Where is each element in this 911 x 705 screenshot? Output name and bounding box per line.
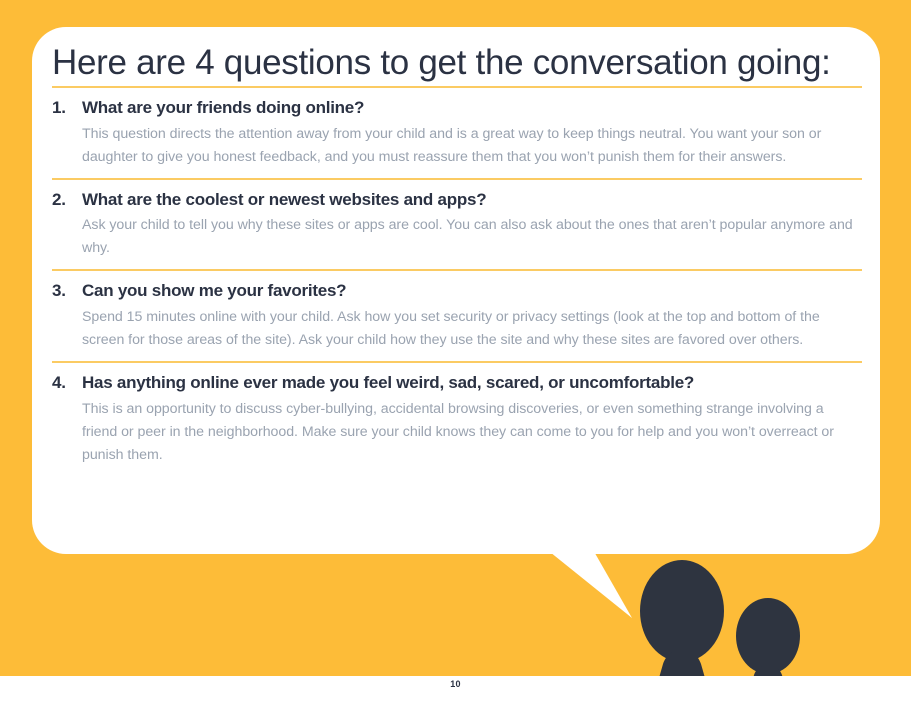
question-title: Can you show me your favorites? [82, 280, 862, 303]
question-title: What are the coolest or newest websites … [82, 189, 862, 212]
question-text: This is an opportunity to discuss cyber-… [82, 398, 862, 467]
question-text: Spend 15 minutes online with your child.… [82, 306, 862, 352]
question-body: What are the coolest or newest websites … [82, 189, 862, 261]
page-number: 10 [0, 679, 911, 689]
page-title: Here are 4 questions to get the conversa… [42, 27, 870, 86]
question-item-4: 4. Has anything online ever made you fee… [52, 361, 862, 476]
question-number: 3. [52, 280, 82, 302]
question-number: 1. [52, 97, 82, 119]
question-text: This question directs the attention away… [82, 123, 862, 169]
slide-page: Here are 4 questions to get the conversa… [0, 0, 911, 705]
question-title: Has anything online ever made you feel w… [82, 372, 862, 395]
question-body: Has anything online ever made you feel w… [82, 372, 862, 467]
question-body: What are your friends doing online? This… [82, 97, 862, 169]
card-inner: Here are 4 questions to get the conversa… [42, 27, 870, 554]
question-number: 2. [52, 189, 82, 211]
question-item-1: 1. What are your friends doing online? T… [52, 86, 862, 178]
question-item-3: 3. Can you show me your favorites? Spend… [52, 269, 862, 361]
question-text: Ask your child to tell you why these sit… [82, 214, 862, 260]
question-body: Can you show me your favorites? Spend 15… [82, 280, 862, 352]
question-item-2: 2. What are the coolest or newest websit… [52, 178, 862, 270]
page-footer: 10 [0, 676, 911, 705]
questions-list: 1. What are your friends doing online? T… [42, 86, 870, 476]
question-title: What are your friends doing online? [82, 97, 862, 120]
content-card: Here are 4 questions to get the conversa… [32, 27, 880, 554]
question-number: 4. [52, 372, 82, 394]
